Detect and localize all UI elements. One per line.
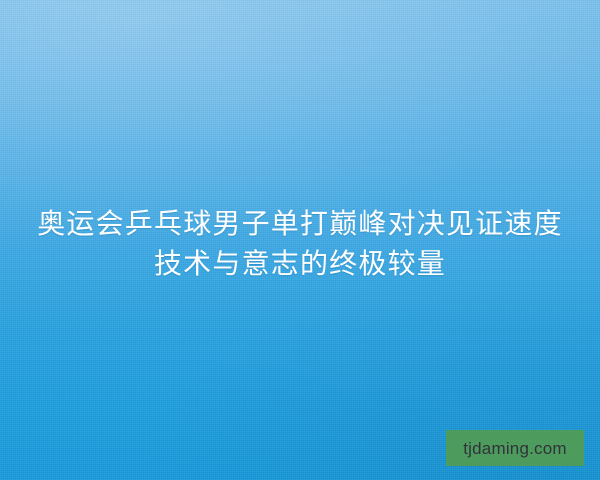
watermark-badge: tjdaming.com bbox=[446, 430, 584, 466]
banner-image: 奥运会乒乓球男子单打巅峰对决见证速度 技术与意志的终极较量 tjdaming.c… bbox=[0, 0, 600, 480]
banner-title-line-2: 技术与意志的终极较量 bbox=[14, 244, 586, 284]
banner-title-line-1: 奥运会乒乓球男子单打巅峰对决见证速度 bbox=[14, 204, 586, 244]
banner-title: 奥运会乒乓球男子单打巅峰对决见证速度 技术与意志的终极较量 bbox=[0, 204, 600, 284]
watermark-site-label: tjdaming.com bbox=[463, 440, 567, 457]
